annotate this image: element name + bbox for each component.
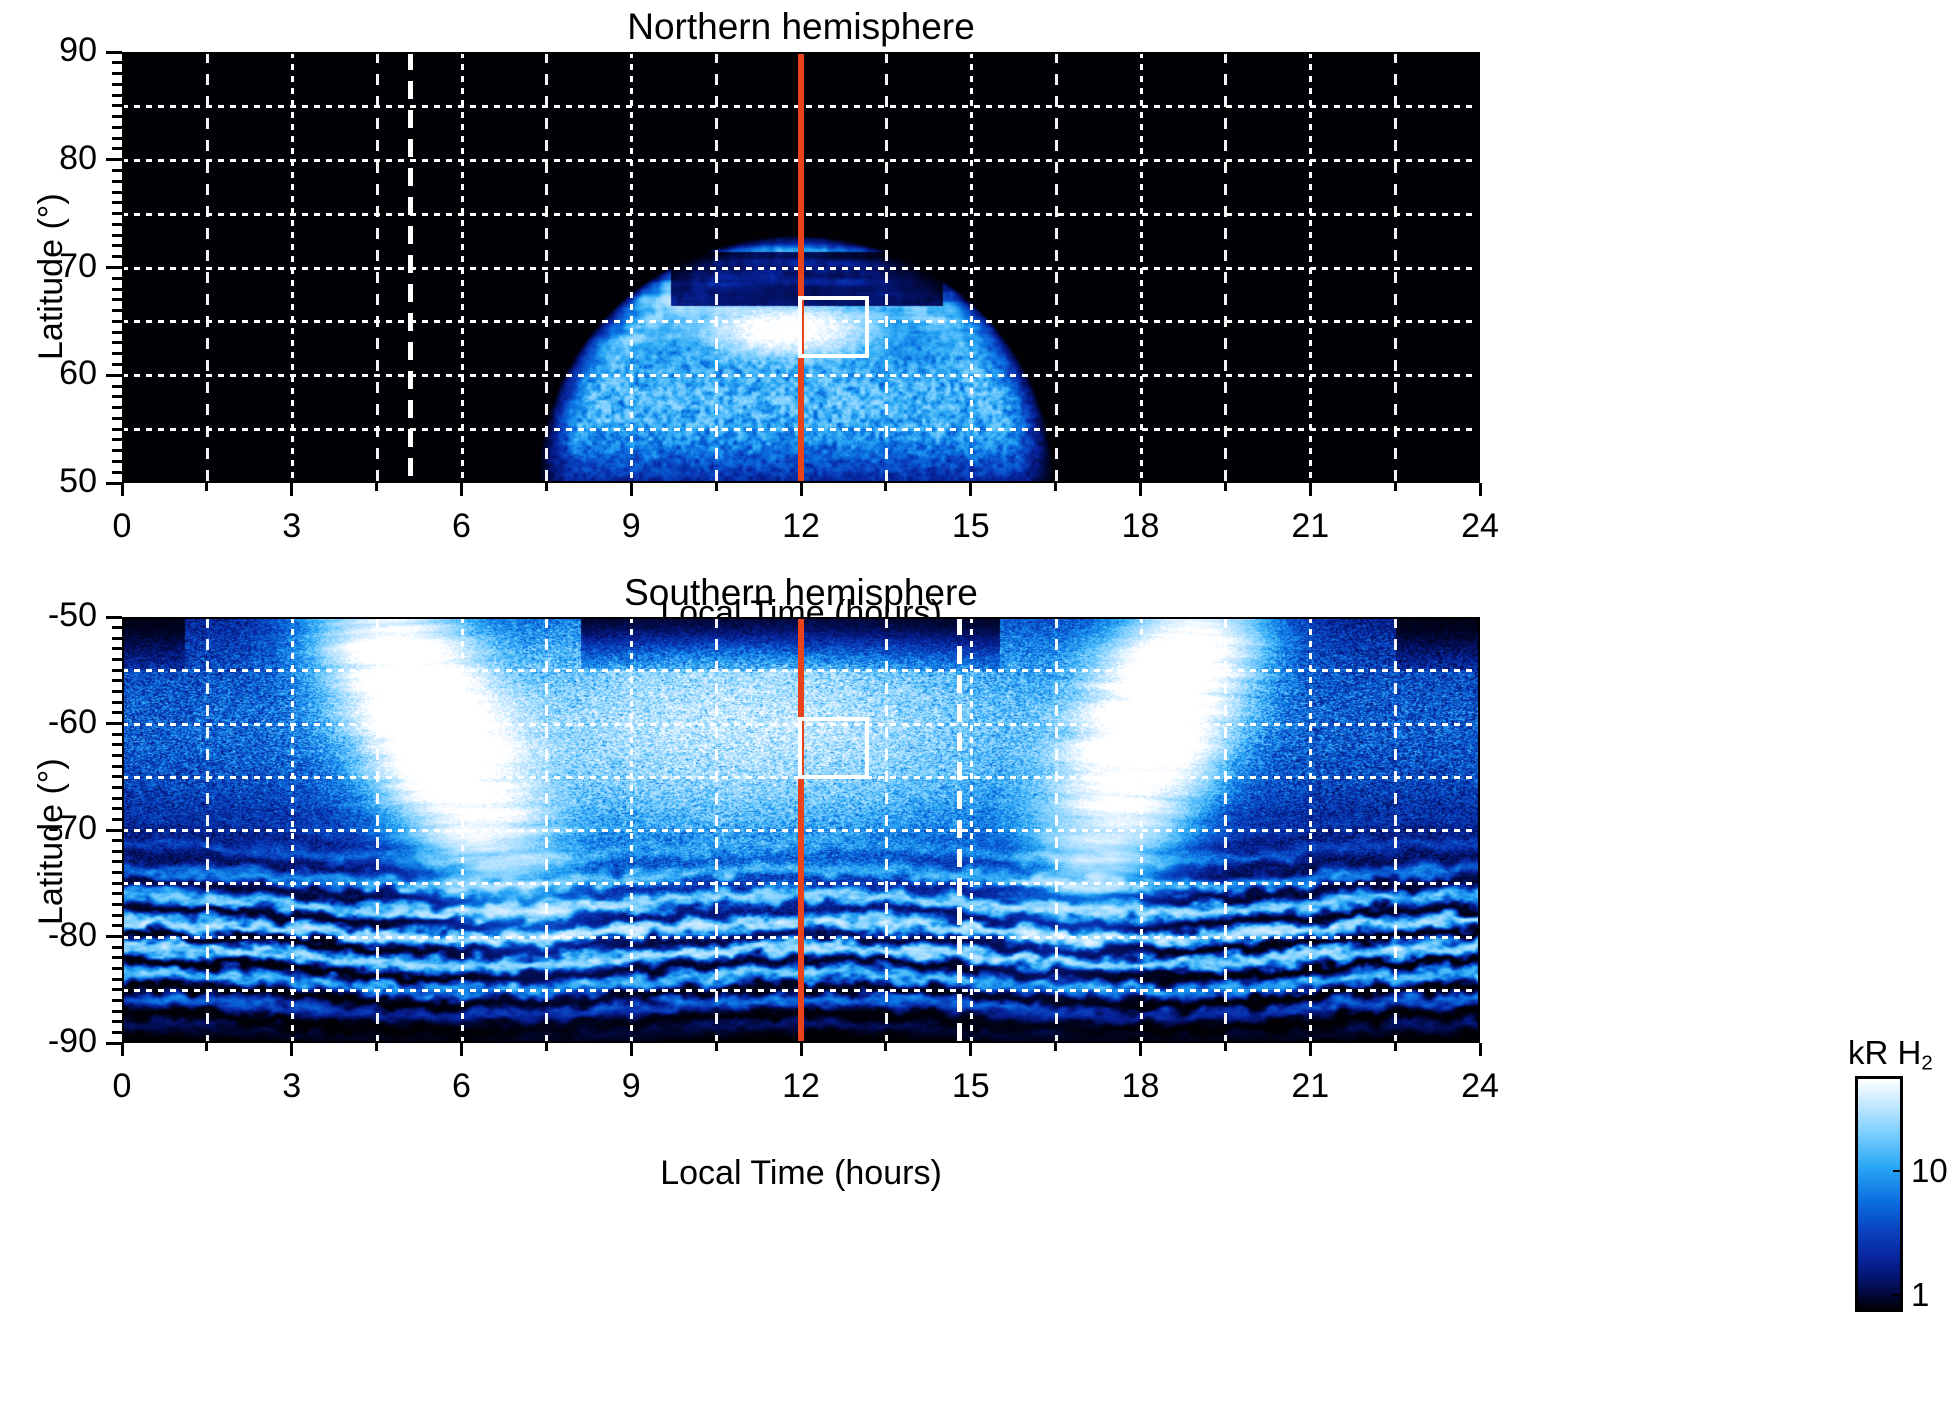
xtick-label: 18 [1081, 1069, 1201, 1103]
ytick-mark-minor [112, 180, 122, 183]
ytick-mark [106, 935, 122, 938]
xtick-mark-minor [375, 1043, 378, 1051]
colorbar-gradient [1855, 1076, 1903, 1312]
ytick-label: -60 [0, 705, 97, 739]
noon-meridian-line-southern [798, 617, 804, 1043]
xtick-mark-minor [205, 483, 208, 491]
colorbar-tick-label-10: 10 [1911, 1154, 1948, 1187]
ytick-mark-minor [112, 352, 122, 355]
xtick-mark [1479, 483, 1482, 496]
colorbar-tickmark-1 [1893, 1294, 1903, 1296]
ytick-mark-minor [112, 61, 122, 64]
ytick-label: 90 [0, 33, 97, 67]
ytick-mark-minor [112, 1020, 122, 1023]
ytick-mark-minor [112, 72, 122, 75]
ytick-mark-minor [112, 277, 122, 280]
ytick-mark-minor [112, 637, 122, 640]
ytick-mark-minor [112, 417, 122, 420]
ytick-mark-minor [112, 669, 122, 672]
ytick-mark-minor [112, 212, 122, 215]
ytick-mark-minor [112, 797, 122, 800]
ytick-mark-minor [112, 471, 122, 474]
xtick-mark [630, 483, 633, 496]
ytick-mark-minor [112, 126, 122, 129]
xtick-label: 6 [402, 509, 522, 543]
xtick-mark-minor [884, 483, 887, 491]
xtick-mark [1139, 483, 1142, 496]
ytick-mark-minor [112, 818, 122, 821]
xtick-mark [969, 483, 972, 496]
plot-area-southern [122, 617, 1480, 1043]
xtick-label: 21 [1250, 509, 1370, 543]
ytick-mark-minor [112, 871, 122, 874]
ytick-mark-minor [112, 234, 122, 237]
ytick-mark-minor [112, 860, 122, 863]
xtick-label: 6 [402, 1069, 522, 1103]
xtick-mark-minor [1054, 483, 1057, 491]
ytick-mark-minor [112, 191, 122, 194]
xtick-label: 12 [741, 1069, 861, 1103]
ytick-mark-minor [112, 449, 122, 452]
xtick-mark [1309, 1043, 1312, 1056]
xtick-mark-minor [1054, 1043, 1057, 1051]
ytick-mark-minor [112, 320, 122, 323]
xtick-mark [460, 483, 463, 496]
ytick-mark-minor [112, 309, 122, 312]
ytick-mark-minor [112, 223, 122, 226]
ytick-mark-minor [112, 331, 122, 334]
xtick-mark [800, 1043, 803, 1056]
ytick-mark-minor [112, 201, 122, 204]
xtick-mark-minor [1224, 1043, 1227, 1051]
ytick-mark-minor [112, 94, 122, 97]
terminator-line-southern [957, 617, 962, 1043]
ytick-mark [106, 482, 122, 485]
xtick-mark-minor [375, 483, 378, 491]
plot-area-northern [122, 52, 1480, 483]
ytick-mark-minor [112, 999, 122, 1002]
ytick-mark-minor [112, 104, 122, 107]
ytick-mark [106, 51, 122, 54]
ytick-mark-minor [112, 406, 122, 409]
xtick-label: 0 [62, 509, 182, 543]
xtick-mark-minor [545, 1043, 548, 1051]
ytick-mark-minor [112, 850, 122, 853]
xtick-mark [290, 1043, 293, 1056]
colorbar-title-subscript: 2 [1921, 1052, 1932, 1075]
xtick-mark-minor [1394, 483, 1397, 491]
ytick-label: 50 [0, 464, 97, 498]
ytick-mark [106, 829, 122, 832]
ytick-mark-minor [112, 711, 122, 714]
colorbar-tickmark-10 [1893, 1170, 1903, 1172]
ytick-mark-minor [112, 255, 122, 258]
terminator-line-northern [408, 52, 413, 483]
xtick-mark-minor [1224, 483, 1227, 491]
xtick-mark-minor [715, 483, 718, 491]
ytick-mark-minor [112, 428, 122, 431]
ytick-mark-minor [112, 137, 122, 140]
ytick-label: -90 [0, 1024, 97, 1058]
xtick-label: 18 [1081, 509, 1201, 543]
ytick-mark-minor [112, 743, 122, 746]
y-axis-label-southern: Latitude (°) [34, 758, 68, 925]
xtick-mark [800, 483, 803, 496]
ytick-mark-minor [112, 147, 122, 150]
x-axis-label-southern: Local Time (hours) [122, 1156, 1480, 1190]
colorbar-title: kR H2 [1848, 1036, 1933, 1080]
ytick-mark-minor [112, 765, 122, 768]
xtick-mark-minor [205, 1043, 208, 1051]
ytick-mark-minor [112, 754, 122, 757]
xtick-label: 15 [911, 509, 1031, 543]
ytick-mark-minor [112, 658, 122, 661]
ytick-mark [106, 266, 122, 269]
xtick-mark [1139, 1043, 1142, 1056]
xtick-mark-minor [884, 1043, 887, 1051]
ytick-mark-minor [112, 690, 122, 693]
ytick-mark-minor [112, 83, 122, 86]
xtick-label: 9 [571, 509, 691, 543]
xtick-mark [1479, 1043, 1482, 1056]
xtick-mark [630, 1043, 633, 1056]
ytick-mark-minor [112, 882, 122, 885]
ytick-mark [106, 158, 122, 161]
ytick-mark-minor [112, 1031, 122, 1034]
xtick-label: 24 [1420, 1069, 1540, 1103]
xtick-label: 3 [232, 509, 352, 543]
ytick-mark-minor [112, 988, 122, 991]
xtick-mark [290, 483, 293, 496]
xtick-mark [121, 1043, 124, 1056]
ytick-mark-minor [112, 892, 122, 895]
ytick-mark-minor [112, 298, 122, 301]
colorbar-tick-label-1: 1 [1911, 1278, 1929, 1311]
ytick-label: 60 [0, 356, 97, 390]
xtick-label: 0 [62, 1069, 182, 1103]
ytick-mark-minor [112, 169, 122, 172]
region-of-interest-box-southern [798, 717, 869, 779]
ytick-label: -50 [0, 598, 97, 632]
ytick-mark-minor [112, 341, 122, 344]
ytick-mark-minor [112, 967, 122, 970]
ytick-mark-minor [112, 647, 122, 650]
ytick-mark-minor [112, 903, 122, 906]
xtick-mark [460, 1043, 463, 1056]
xtick-mark [1309, 483, 1312, 496]
xtick-label: 15 [911, 1069, 1031, 1103]
ytick-mark-minor [112, 679, 122, 682]
noon-meridian-line-northern [798, 52, 804, 483]
xtick-mark-minor [715, 1043, 718, 1051]
ytick-mark-minor [112, 914, 122, 917]
ytick-label: 80 [0, 141, 97, 175]
ytick-mark-minor [112, 786, 122, 789]
xtick-label: 12 [741, 509, 861, 543]
y-axis-label-northern: Latitude (°) [34, 193, 68, 360]
ytick-mark-minor [112, 395, 122, 398]
ytick-mark-minor [112, 839, 122, 842]
ytick-mark-minor [112, 946, 122, 949]
xtick-mark-minor [545, 483, 548, 491]
ytick-mark-minor [112, 626, 122, 629]
panel-title-southern: Southern hemisphere [122, 574, 1480, 611]
ytick-mark-minor [112, 701, 122, 704]
ytick-mark-minor [112, 978, 122, 981]
xtick-mark [121, 483, 124, 496]
panel-title-northern: Northern hemisphere [122, 8, 1480, 45]
ytick-mark-minor [112, 1010, 122, 1013]
colorbar-title-text: kR H [1848, 1034, 1921, 1071]
ytick-mark-minor [112, 924, 122, 927]
ytick-mark-minor [112, 438, 122, 441]
ytick-mark [106, 722, 122, 725]
ytick-mark [106, 1042, 122, 1045]
xtick-label: 9 [571, 1069, 691, 1103]
ytick-mark-minor [112, 775, 122, 778]
ytick-mark-minor [112, 115, 122, 118]
ytick-mark-minor [112, 733, 122, 736]
xtick-label: 24 [1420, 509, 1540, 543]
xtick-label: 3 [232, 1069, 352, 1103]
ytick-mark-minor [112, 363, 122, 366]
ytick-mark-minor [112, 244, 122, 247]
ytick-mark [106, 374, 122, 377]
region-of-interest-box-northern [798, 296, 869, 358]
xtick-mark [969, 1043, 972, 1056]
ytick-mark-minor [112, 807, 122, 810]
ytick-mark-minor [112, 288, 122, 291]
ytick-mark-minor [112, 460, 122, 463]
figure-root: Northern hemisphere 03691215182124 50607… [0, 0, 1950, 1423]
xtick-mark-minor [1394, 1043, 1397, 1051]
ytick-mark [106, 616, 122, 619]
ytick-mark-minor [112, 385, 122, 388]
xtick-label: 21 [1250, 1069, 1370, 1103]
ytick-mark-minor [112, 956, 122, 959]
